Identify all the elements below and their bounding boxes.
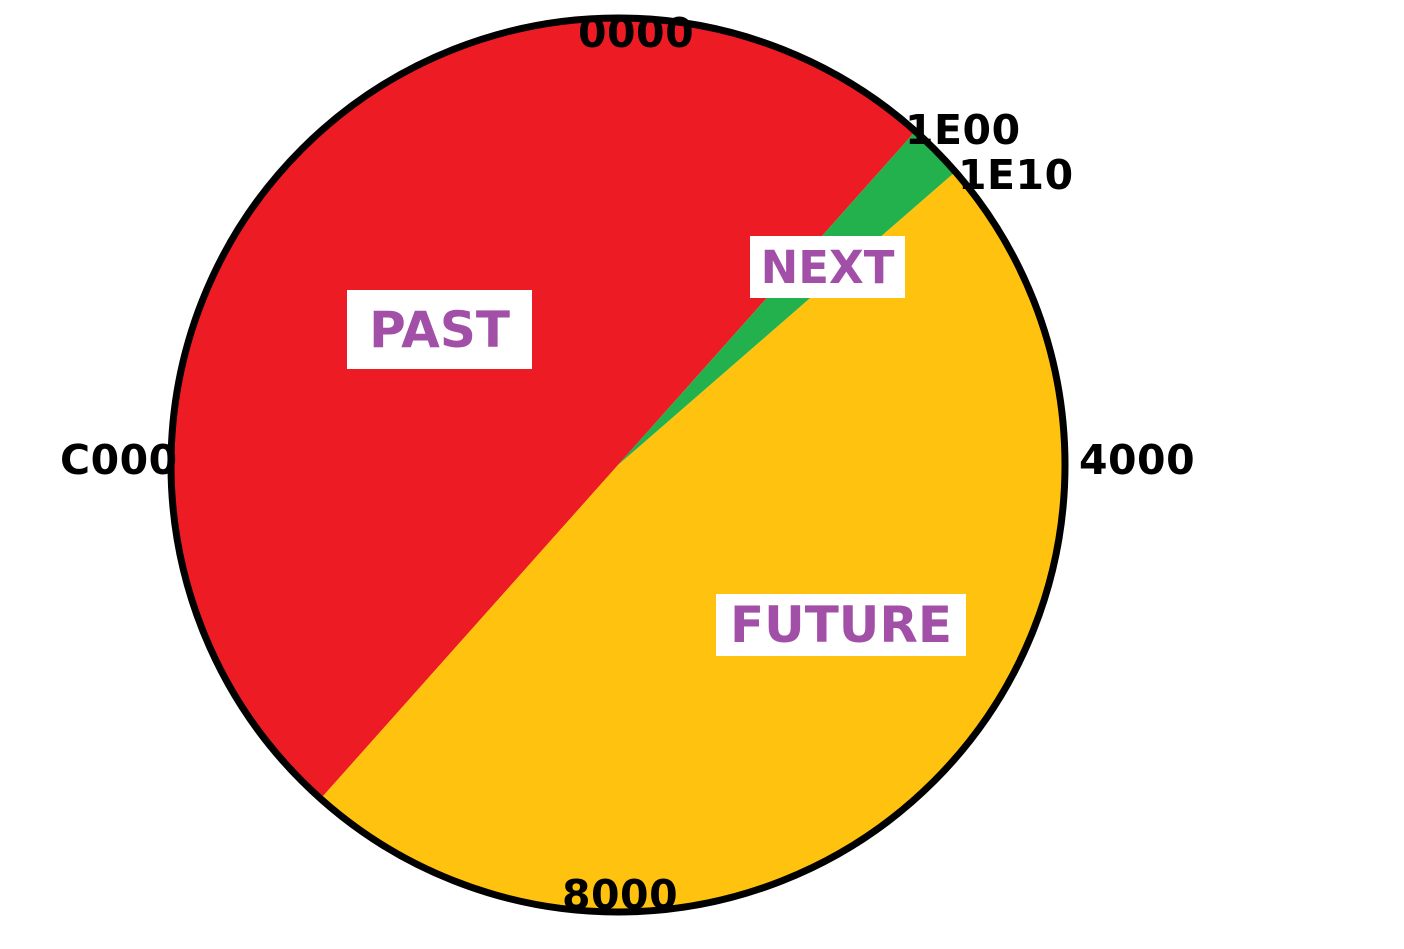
sector-label-past: PAST — [347, 290, 532, 369]
sector-label-future: FUTURE — [716, 594, 966, 656]
ring-label-8000: 8000 — [562, 875, 678, 916]
ring-label-1E00: 1E00 — [905, 110, 1021, 151]
ring-label-1E10: 1E10 — [958, 155, 1074, 196]
ring-label-4000: 4000 — [1079, 440, 1195, 481]
sector-label-next: NEXT — [750, 236, 905, 298]
ring-label-C000: C000 — [60, 440, 178, 481]
ring-label-0000: 0000 — [578, 13, 694, 54]
diagram-canvas: 0000 1E00 1E10 4000 8000 C000 PAST NEXT … — [0, 0, 1404, 949]
